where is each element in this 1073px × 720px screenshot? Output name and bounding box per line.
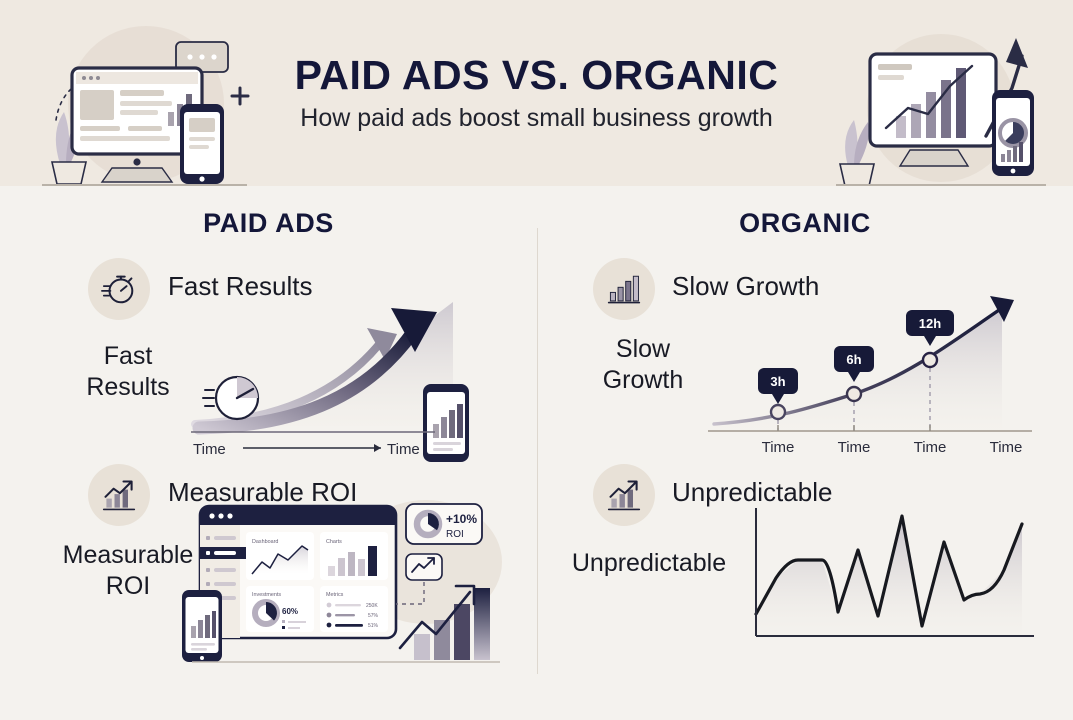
tooltip-6h: 6h: [834, 346, 874, 382]
feature-unpredictable: Unpredictable Unpredictable: [537, 462, 1073, 672]
roi-badge-value: +10%: [446, 512, 477, 526]
charts-card-label: Charts: [326, 539, 342, 545]
bar-chart-icon: [593, 258, 655, 320]
sublabel-line-1: Fast: [72, 341, 184, 372]
axis-label-time-start: Time: [193, 441, 226, 458]
page-title: PAID ADS VS. ORGANIC: [295, 55, 779, 96]
investments-card-label: Investments: [252, 592, 281, 598]
body-area: PAID ADS Fast Results Fast: [0, 186, 1073, 720]
column-organic: ORGANIC Slow Growt: [537, 186, 1073, 720]
infographic-root: PAID ADS VS. ORGANIC How paid ads boost …: [0, 0, 1073, 720]
desktop-and-phone-illustration: [28, 16, 258, 186]
metrics-value-3: 51%: [368, 623, 379, 629]
paid-growth-chart: Time Time: [185, 284, 505, 462]
investments-value: 60%: [282, 607, 298, 616]
tooltip-12h: 12h: [906, 310, 954, 346]
feature-sublabel-unpredictable: Unpredictable: [549, 548, 749, 579]
metrics-value-2: 57%: [368, 613, 379, 619]
feature-sublabel-fast-results: Fast Results: [72, 341, 184, 404]
tooltip-3h: 3h: [758, 368, 798, 404]
feature-fast-results: Fast Results Fast Results: [0, 256, 537, 466]
axis-label-time-4: Time: [990, 439, 1023, 456]
dashboard-card-label: Dashboard: [252, 539, 278, 545]
axis-label-time-1: Time: [762, 439, 795, 456]
axis-label-time-2: Time: [838, 439, 871, 456]
metrics-value-1: 250K: [366, 603, 378, 609]
desktop-growth-chart-illustration: [836, 16, 1051, 186]
column-heading-paid-ads: PAID ADS: [0, 208, 537, 239]
roi-badge-caption: ROI: [446, 529, 464, 540]
trend-up-pill: [406, 554, 442, 580]
axis-label-time-3: Time: [914, 439, 947, 456]
metrics-card-label: Metrics: [326, 592, 344, 598]
unpredictable-chart: [742, 502, 1042, 662]
roi-badge: +10% ROI: [406, 504, 482, 544]
trend-up-bars-icon: [88, 464, 150, 526]
column-heading-organic: ORGANIC: [537, 208, 1073, 239]
tooltip-label-12h: 12h: [919, 316, 941, 331]
stopwatch-icon: [88, 258, 150, 320]
axis-label-time-end: Time: [387, 441, 420, 458]
column-paid-ads: PAID ADS Fast Results Fast: [0, 186, 537, 720]
feature-sublabel-slow-growth: Slow Growth: [577, 334, 709, 397]
sublabel-line-1: Slow: [577, 334, 709, 365]
tooltip-label-6h: 6h: [846, 352, 861, 367]
header-band: PAID ADS VS. ORGANIC How paid ads boost …: [0, 0, 1073, 186]
page-subtitle: How paid ads boost small business growth: [300, 106, 772, 131]
roi-dashboard-illustration: Dashboard Charts: [178, 492, 508, 672]
tooltip-label-3h: 3h: [770, 374, 785, 389]
feature-measurable-roi: Measurable ROI Measurable ROI: [0, 462, 537, 672]
sublabel-line-2: Results: [72, 372, 184, 403]
sublabel-line-2: Growth: [577, 365, 709, 396]
trend-up-bars-icon: [593, 464, 655, 526]
organic-growth-chart: 3h 6h 12h: [702, 284, 1057, 464]
feature-slow-growth: Slow Growth Slow Growth: [537, 256, 1073, 466]
